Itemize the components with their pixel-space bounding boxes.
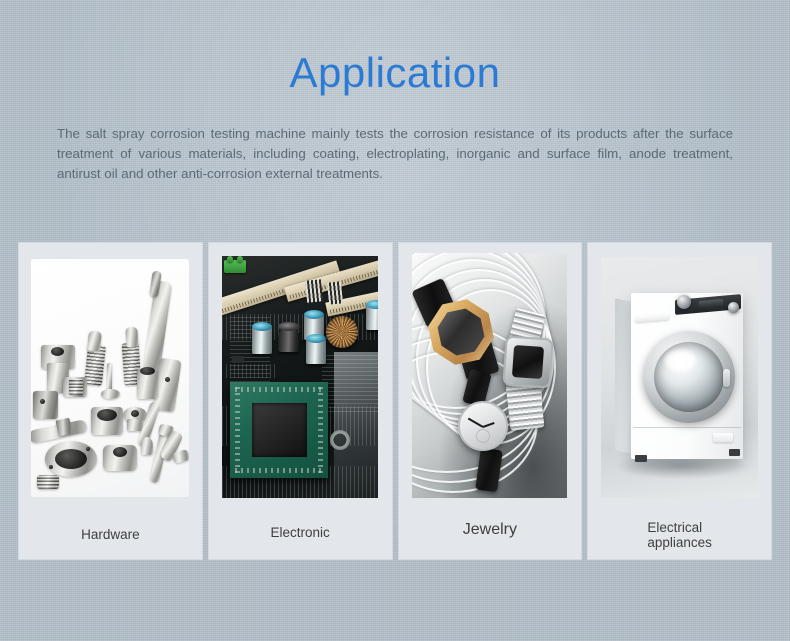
card-label-electrical-appliances: Electrical appliances <box>647 520 712 550</box>
card-label-jewelry: Jewelry <box>463 522 517 537</box>
application-card-jewelry[interactable]: Jewelry <box>398 242 583 560</box>
application-page: Application The salt spray corrosion tes… <box>0 0 790 641</box>
card-label-line-2: appliances <box>647 535 712 550</box>
application-card-hardware[interactable]: Hardware <box>18 242 203 560</box>
application-card-electronic[interactable]: Electronic <box>208 242 393 560</box>
page-description: The salt spray corrosion testing machine… <box>57 124 733 184</box>
card-label-line-1: Electrical <box>647 520 702 535</box>
page-title: Application <box>0 52 790 94</box>
jewelry-image <box>412 253 567 498</box>
application-cards-row: Hardware <box>18 242 772 560</box>
card-label-hardware: Hardware <box>81 527 140 542</box>
application-card-electrical-appliances[interactable]: Electrical appliances <box>587 242 772 560</box>
card-label-electronic: Electronic <box>270 525 329 540</box>
electrical-appliances-image <box>601 257 758 498</box>
electronic-image <box>222 256 378 498</box>
hardware-image <box>31 259 189 497</box>
